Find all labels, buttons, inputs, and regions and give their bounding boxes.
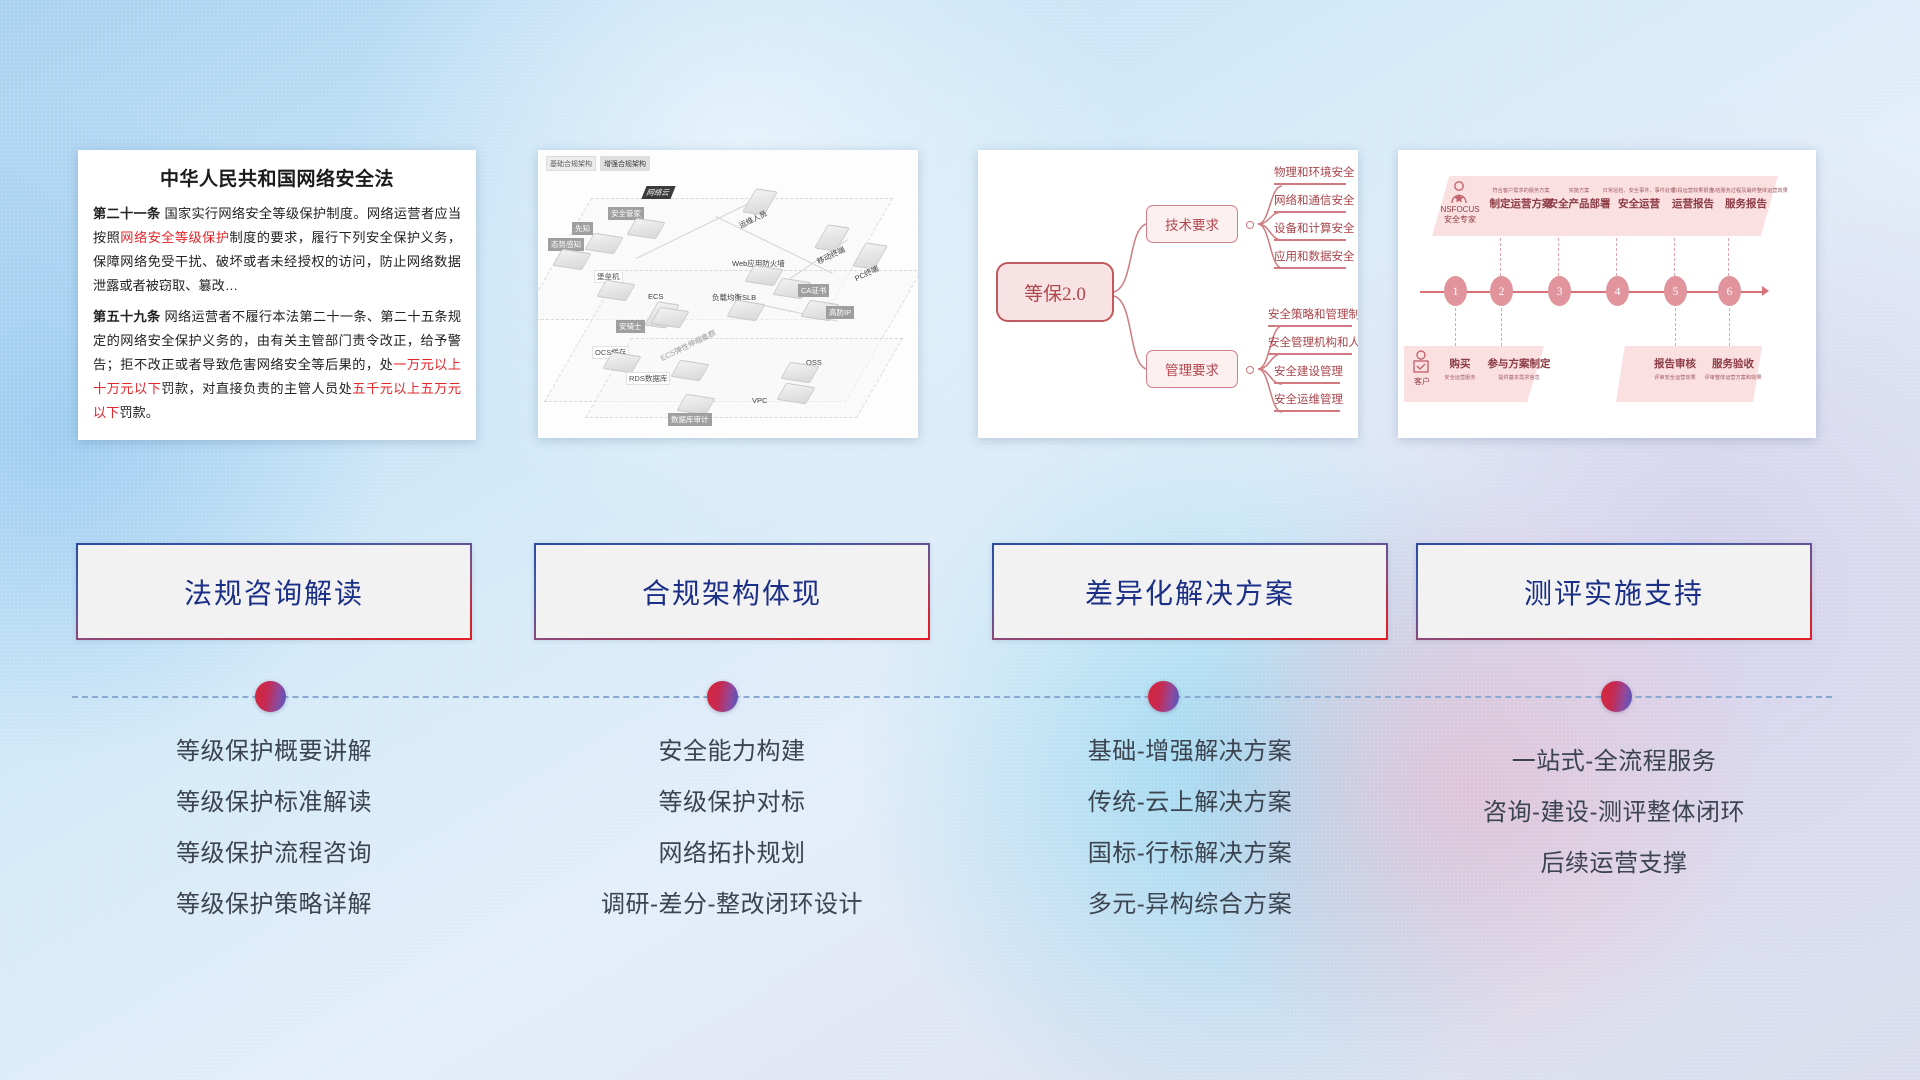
section-title-label: 差异化解决方案 — [1085, 572, 1295, 612]
architecture-node-icon — [626, 218, 665, 239]
section-detail-lists: 等级保护概要讲解 等级保护标准解读 等级保护流程咨询 等级保护策略详解 安全能力… — [0, 740, 1920, 960]
architecture-node: CA证书 — [776, 280, 808, 297]
architecture-diagram: 基础合规架构 增强合规架构 网络云 安全管家 先知 态势感知 堡垒机 ECS 安… — [538, 150, 918, 438]
expert-person-icon — [1448, 180, 1470, 204]
mindmap-leaf: 安全管理机构和人员 — [1268, 334, 1352, 355]
law-article-59: 第五十九条 网络运营者不履行本法第二十一条、第二十五条规定的网络安全保护义务的，… — [93, 305, 461, 425]
law-article-21-seg-1: 网络安全等级保护 — [120, 230, 229, 245]
nsfocus-axis-arrow — [1762, 286, 1769, 296]
detail-item: 多元-异构综合方案 — [992, 893, 1388, 917]
nsfocus-connector — [1729, 308, 1730, 346]
timeline-track — [0, 688, 1920, 718]
detail-item: 安全能力构建 — [534, 740, 930, 764]
architecture-node: 堡垒机 — [594, 270, 632, 299]
architecture-node-label: 安骑士 — [616, 320, 645, 333]
nsfocus-top-step: 总结服务过程及最终整体运营效果 服务报告 — [1710, 187, 1782, 211]
architecture-node-icon — [584, 233, 623, 254]
timeline-dot-1[interactable] — [255, 681, 286, 712]
section-title-box-2[interactable]: 合规架构体现 — [534, 543, 930, 640]
mindmap-collapse-dot[interactable] — [1246, 366, 1254, 374]
mindmap-diagram: 等保2.0 技术要求 物理和环境安全 网络和通信安全 设备和计算安全 应用和数据… — [978, 150, 1358, 438]
section-title-label: 法规咨询解读 — [184, 572, 364, 612]
mindmap-leaf: 网络和通信安全 — [1274, 192, 1346, 213]
nsfocus-expert-actor: NSFOCUS 安全专家 — [1432, 205, 1488, 225]
nsfocus-step-title: 参与方案制定 — [1482, 356, 1556, 371]
section-title-label: 合规架构体现 — [642, 572, 822, 612]
detail-item: 等级保护策略详解 — [76, 893, 472, 917]
nsfocus-bottom-step: 参与方案制定 提供基本需求信息 — [1482, 356, 1556, 383]
mindmap-leaf: 安全策略和管理制度 — [1268, 306, 1352, 327]
detail-item: 后续运营支撑 — [1416, 852, 1812, 876]
timeline-dot-4[interactable] — [1601, 681, 1632, 712]
card-dengbao-mindmap: 等保2.0 技术要求 物理和环境安全 网络和通信安全 设备和计算安全 应用和数据… — [978, 150, 1358, 438]
nsfocus-connector — [1558, 238, 1559, 276]
nsfocus-axis-node: 2 — [1490, 276, 1513, 306]
architecture-node-icon — [780, 362, 819, 383]
architecture-node: 运维人员 — [736, 190, 772, 214]
nsfocus-connector — [1455, 308, 1456, 346]
architecture-node: 态势感知 — [548, 238, 588, 268]
card-nsfocus-service-timeline: NSFOCUS 安全专家 符合客户需求的服务方案 制定运营方案 实施方案 安全产… — [1398, 150, 1816, 438]
architecture-badge-cloud: 网络云 — [641, 186, 675, 199]
architecture-node: 高防IP — [804, 302, 836, 319]
law-article-21-label: 第二十一条 — [93, 206, 160, 221]
law-article-59-label: 第五十九条 — [93, 309, 160, 324]
mindmap-leaf: 安全运维管理 — [1274, 391, 1340, 412]
nsfocus-step-title: 服务报告 — [1710, 196, 1782, 211]
law-title: 中华人民共和国网络安全法 — [93, 164, 461, 191]
detail-list-1: 等级保护概要讲解 等级保护标准解读 等级保护流程咨询 等级保护策略详解 — [76, 740, 472, 944]
architecture-tab-basic[interactable]: 基础合规架构 — [546, 156, 596, 171]
client-person-icon — [1410, 350, 1432, 374]
nsfocus-step-note: 符合客户需求的服务方案 — [1488, 187, 1554, 194]
section-title-box-4[interactable]: 测评实施支持 — [1416, 543, 1812, 640]
mindmap-leaf: 安全建设管理 — [1274, 363, 1340, 384]
nsfocus-connector — [1500, 238, 1501, 276]
nsfocus-top-step: 符合客户需求的服务方案 制定运营方案 — [1488, 187, 1554, 211]
architecture-node: 负载均衡SLB — [710, 292, 762, 319]
nsfocus-connector — [1728, 238, 1729, 276]
nsfocus-expert-line1: NSFOCUS — [1432, 205, 1488, 214]
nsfocus-bottom-step: 服务验收 评审整体运营方案和效果 — [1698, 356, 1768, 383]
architecture-node: PC终端 — [852, 244, 882, 268]
nsfocus-expert-line2: 安全专家 — [1432, 214, 1488, 225]
card-compliance-architecture: 基础合规架构 增强合规架构 网络云 安全管家 先知 态势感知 堡垒机 ECS 安… — [538, 150, 918, 438]
mindmap-root-node: 等保2.0 — [996, 262, 1114, 322]
detail-item: 等级保护标准解读 — [76, 791, 472, 815]
law-article-59-seg-2: 罚款，对直接负责的主管人员处 — [161, 381, 352, 396]
architecture-node-label: 先知 — [572, 222, 593, 235]
law-article-59-seg-4: 罚款。 — [119, 405, 159, 420]
nsfocus-axis-line — [1420, 291, 1764, 293]
section-title-box-1[interactable]: 法规咨询解读 — [76, 543, 472, 640]
architecture-node-icon — [552, 249, 591, 270]
mindmap-branch-management: 管理要求 — [1146, 350, 1238, 388]
law-document: 中华人民共和国网络安全法 第二十一条 国家实行网络安全等级保护制度。网络运营者应… — [78, 150, 476, 440]
nsfocus-step-note: 安全运营服务 — [1438, 374, 1482, 381]
mindmap-branch-technical: 技术要求 — [1146, 205, 1238, 243]
illustration-card-row: 中华人民共和国网络安全法 第二十一条 国家实行网络安全等级保护制度。网络运营者应… — [0, 150, 1920, 450]
detail-list-4: 一站式-全流程服务 咨询-建设-测评整体闭环 后续运营支撑 — [1416, 750, 1812, 903]
mindmap-leaf: 物理和环境安全 — [1274, 164, 1346, 185]
architecture-tab-group: 基础合规架构 增强合规架构 — [546, 156, 650, 171]
architecture-node-label: RDS数据库 — [626, 372, 670, 385]
detail-item: 等级保护概要讲解 — [76, 740, 472, 764]
nsfocus-timeline: NSFOCUS 安全专家 符合客户需求的服务方案 制定运营方案 实施方案 安全产… — [1398, 150, 1816, 438]
nsfocus-axis-node: 6 — [1718, 276, 1741, 306]
nsfocus-connector — [1675, 308, 1676, 346]
section-title-row: 法规咨询解读 合规架构体现 差异化解决方案 测评实施支持 — [0, 543, 1920, 643]
nsfocus-step-note: 总结服务过程及最终整体运营效果 — [1710, 187, 1782, 194]
architecture-node: Web应用防火墙 — [730, 258, 780, 284]
detail-item: 国标-行标解决方案 — [992, 842, 1388, 866]
architecture-node: RDS数据库 — [626, 372, 706, 379]
architecture-node: OCS缓存 — [592, 346, 638, 371]
detail-item: 网络拓扑规划 — [534, 842, 930, 866]
section-title-label: 测评实施支持 — [1524, 572, 1704, 612]
nsfocus-step-note: 评审整体运营方案和效果 — [1698, 374, 1768, 381]
mindmap-leaf: 设备和计算安全 — [1274, 220, 1346, 241]
timeline-dot-2[interactable] — [707, 681, 738, 712]
detail-item: 调研-差分-整改闭环设计 — [534, 893, 930, 917]
nsfocus-step-title: 制定运营方案 — [1488, 196, 1554, 211]
nsfocus-step-title: 购买 — [1438, 356, 1482, 371]
nsfocus-axis-node: 4 — [1606, 276, 1629, 306]
nsfocus-step-note: 提供基本需求信息 — [1482, 374, 1556, 381]
nsfocus-connector — [1674, 238, 1675, 276]
nsfocus-bottom-step: 购买 安全运营服务 — [1438, 356, 1482, 383]
detail-item: 咨询-建设-测评整体闭环 — [1416, 801, 1812, 825]
architecture-tab-enhanced[interactable]: 增强合规架构 — [600, 156, 650, 171]
architecture-node: 数据库审计 — [668, 396, 712, 413]
architecture-node-label: VPC — [750, 396, 769, 405]
law-article-21: 第二十一条 国家实行网络安全等级保护制度。网络运营者应当按照网络安全等级保护制度… — [93, 202, 461, 298]
detail-item: 基础-增强解决方案 — [992, 740, 1388, 764]
nsfocus-connector — [1501, 308, 1502, 346]
architecture-node: 安骑士 — [616, 320, 686, 326]
detail-list-3: 基础-增强解决方案 传统-云上解决方案 国标-行标解决方案 多元-异构综合方案 — [992, 740, 1388, 944]
architecture-node: VPC — [750, 396, 812, 402]
architecture-node-label: 高防IP — [826, 306, 854, 319]
detail-item: 等级保护流程咨询 — [76, 842, 472, 866]
architecture-node-label: CA证书 — [798, 284, 829, 297]
architecture-node-label: ECS — [646, 292, 665, 301]
detail-item: 传统-云上解决方案 — [992, 791, 1388, 815]
card-cybersecurity-law: 中华人民共和国网络安全法 第二十一条 国家实行网络安全等级保护制度。网络运营者应… — [78, 150, 476, 440]
nsfocus-step-title: 服务验收 — [1698, 356, 1768, 371]
mindmap-leaf: 应用和数据安全 — [1274, 248, 1346, 269]
nsfocus-client-actor: 客户 — [1406, 376, 1438, 387]
nsfocus-axis-node: 3 — [1548, 276, 1571, 306]
architecture-node: 移动终端 — [814, 226, 844, 250]
detail-item: 一站式-全流程服务 — [1416, 750, 1812, 774]
detail-list-2: 安全能力构建 等级保护对标 网络拓扑规划 调研-差分-整改闭环设计 — [534, 740, 930, 944]
section-title-box-3[interactable]: 差异化解决方案 — [992, 543, 1388, 640]
timeline-dashed-line — [72, 696, 1832, 698]
timeline-dot-3[interactable] — [1148, 681, 1179, 712]
mindmap-collapse-dot[interactable] — [1246, 221, 1254, 229]
detail-item: 等级保护对标 — [534, 791, 930, 815]
architecture-node: OSS — [782, 358, 816, 381]
architecture-node-label: 数据库审计 — [668, 413, 712, 426]
nsfocus-connector — [1616, 238, 1617, 276]
nsfocus-axis-node: 1 — [1444, 276, 1467, 306]
nsfocus-axis-node: 5 — [1664, 276, 1687, 306]
